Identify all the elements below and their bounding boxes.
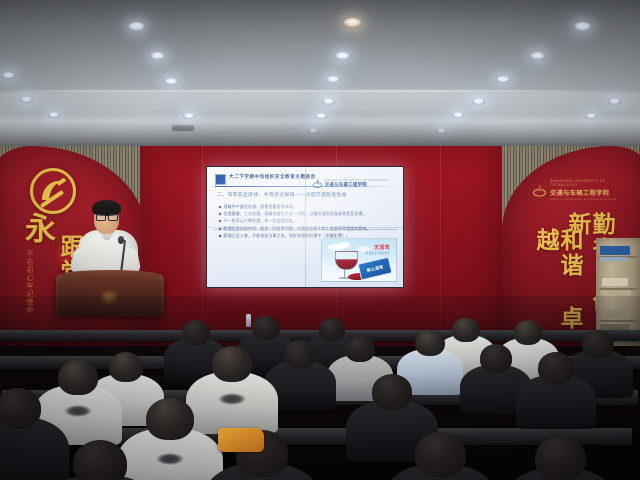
slide-logo-cn: 交通与车辆工程学院 bbox=[325, 182, 389, 188]
audience-head-6 bbox=[582, 330, 613, 358]
book-0 bbox=[600, 246, 630, 255]
college-torch-icon bbox=[532, 183, 547, 198]
audience-head-9 bbox=[480, 344, 512, 373]
ceiling-lamp-19 bbox=[585, 113, 597, 119]
ceiling-lamp-10 bbox=[322, 98, 335, 105]
road-sign-icon: 禁止酒驾 bbox=[357, 257, 392, 281]
wine-glass-icon bbox=[335, 251, 358, 270]
book-1 bbox=[600, 257, 628, 261]
ceiling-lamp-2 bbox=[164, 78, 178, 85]
water-bottle bbox=[246, 314, 251, 327]
ceiling-lamp-4 bbox=[48, 112, 60, 118]
podium-top-edge bbox=[60, 270, 160, 280]
ceiling-lamp-16 bbox=[472, 98, 485, 105]
road-sign-text: 禁止酒驾 bbox=[366, 264, 384, 274]
ceiling-soffit-edge bbox=[0, 90, 640, 92]
audience-head-11 bbox=[109, 352, 143, 382]
college-logo-cn-sub: School of Transportation and Vehicle Eng… bbox=[550, 198, 616, 201]
ceiling-lamp-11 bbox=[315, 113, 327, 119]
ceiling-lamp-6 bbox=[2, 72, 15, 79]
audience-head-13 bbox=[58, 360, 97, 395]
slide-divider bbox=[213, 229, 397, 230]
audience-head-12 bbox=[538, 352, 574, 384]
ceiling-lamp-0 bbox=[128, 22, 145, 31]
slide-title: 大二下学期中旬组织安全教育主题班会 bbox=[229, 174, 316, 180]
ceiling-lamp-7 bbox=[344, 18, 361, 27]
lecture-hall-photo: 永 跟党走 不忘初心牢记使命 SHANDONG UNIVERSITY OF TE… bbox=[0, 0, 640, 480]
college-logo-en: SHANDONG UNIVERSITY OF TECHNOLOGY bbox=[550, 179, 616, 187]
audience-head-0 bbox=[252, 316, 279, 340]
speaker-glasses-icon bbox=[96, 214, 117, 219]
tshirt-graphic-16 bbox=[156, 453, 184, 465]
book-3 bbox=[601, 290, 631, 295]
slide-bullet-list: ▶ 酒精中产量型饮酒，损害是要害身体的。▶ 饮酒要慢，三分饮酒，酒精浓度在不足一… bbox=[219, 203, 395, 239]
ceiling-lamp-18 bbox=[608, 98, 621, 105]
audience-head-4 bbox=[514, 320, 542, 345]
slide-bullet-square-icon bbox=[215, 174, 226, 185]
audience-head-16 bbox=[146, 398, 194, 440]
audience-head-19 bbox=[535, 436, 586, 480]
audience-head-3 bbox=[182, 320, 211, 346]
slide-bullet-1: ▶ 饮酒要慢，三分饮酒，酒精浓度在不足一小时，过量饮酒危及身体并危及生命。 bbox=[219, 210, 395, 217]
projection-screen-frame: 大二下学期中旬组织安全教育主题班会 SHANDONG UNIVERSITY OF… bbox=[206, 166, 404, 288]
audience-head-2 bbox=[452, 318, 479, 342]
poster-title: 无酒驾 bbox=[374, 244, 390, 251]
slide-torch-icon bbox=[312, 178, 323, 189]
poster-subtitle: 珍爱生命·拒绝酒驾 bbox=[366, 251, 390, 255]
ceiling-lamp-8 bbox=[335, 52, 350, 60]
ceiling-lamp-14 bbox=[530, 52, 545, 60]
audience-head-20 bbox=[73, 440, 127, 480]
audience-head-18 bbox=[415, 432, 466, 477]
ceiling-lamp-15 bbox=[496, 76, 510, 83]
audience-head-5 bbox=[415, 330, 445, 356]
college-logo: SHANDONG UNIVERSITY OF TECHNOLOGY 交通与车辆工… bbox=[532, 180, 610, 200]
audience-head-1 bbox=[319, 318, 346, 341]
slide-bullet-0: ▶ 酒精中产量型饮酒，损害是要害身体的。 bbox=[219, 203, 395, 210]
orange-bag bbox=[218, 428, 264, 452]
book-2 bbox=[602, 278, 628, 286]
slide-header: 大二下学期中旬组织安全教育主题班会 SHANDONG UNIVERSITY OF… bbox=[215, 174, 395, 186]
ceiling-lamp-17 bbox=[452, 112, 464, 118]
slide-college-logo: SHANDONG UNIVERSITY OF TECHNOLOGY 交通与车辆工… bbox=[312, 178, 389, 189]
audience-head-14 bbox=[372, 374, 413, 410]
audience-head-7 bbox=[345, 336, 375, 362]
slide-section-heading: 二、守牢安全底线，共筑安全屏障——过度饮酒危及生命 bbox=[217, 191, 395, 198]
ceiling-lamp-3 bbox=[20, 96, 33, 103]
ceiling-lamp-5 bbox=[183, 113, 195, 119]
audience-head-15 bbox=[0, 388, 41, 429]
college-logo-cn: 交通与车辆工程学院 bbox=[550, 188, 616, 197]
audience-head-8 bbox=[284, 340, 316, 369]
slide-bullet-2: ▶ 少一些开心少喝些酒，多一些会同白告。 bbox=[219, 217, 395, 224]
projection-screen: 大二下学期中旬组织安全教育主题班会 SHANDONG UNIVERSITY OF… bbox=[207, 167, 403, 287]
audience-head-10 bbox=[212, 346, 253, 382]
ceiling-lamp-1 bbox=[150, 52, 165, 60]
ceiling-lamp-9 bbox=[326, 76, 340, 83]
anti-drunk-driving-poster: 无酒驾 珍爱生命·拒绝酒驾 禁止酒驾 bbox=[321, 238, 397, 282]
ceiling-lamp-13 bbox=[574, 22, 591, 31]
microphone-icon bbox=[118, 236, 124, 244]
